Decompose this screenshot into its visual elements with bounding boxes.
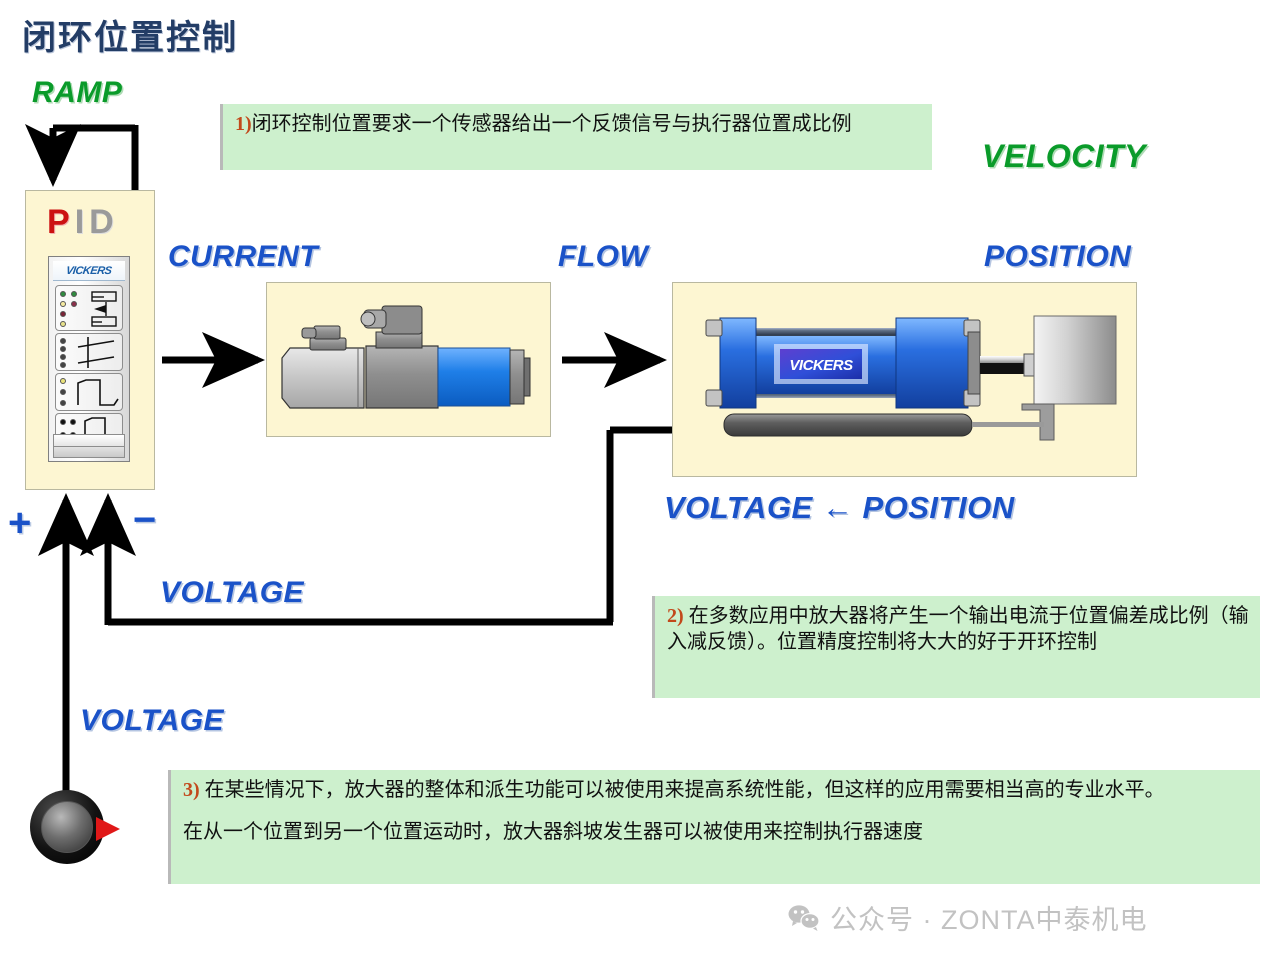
led-yellow-3	[60, 378, 66, 384]
led-yellow-1	[60, 301, 66, 307]
footer-watermark: 公众号 · ZONTA中泰机电	[788, 898, 1147, 937]
command-joystick[interactable]	[30, 790, 104, 864]
note-2-number: 2)	[667, 605, 684, 627]
note-1-number: 1)	[235, 113, 252, 135]
note-3: 3) 在某些情况下，放大器的整体和派生功能可以被使用来提高系统性能，但这样的应用…	[168, 770, 1260, 884]
note-1-text: 闭环控制位置要求一个传感器给出一个反馈信号与执行器位置成比例	[252, 113, 852, 135]
note-3-text-line1: 在某些情况下，放大器的整体和派生功能可以被使用来提高系统性能，但这样的应用需要相…	[205, 779, 1165, 801]
led-red-1	[71, 301, 77, 307]
note-3-paragraph-1: 3) 在某些情况下，放大器的整体和派生功能可以被使用来提高系统性能，但这样的应用…	[183, 777, 1250, 803]
summing-minus-sign: −	[133, 500, 156, 540]
joystick-pointer-icon	[96, 817, 120, 841]
cylinder-brand-text: VICKERS	[789, 357, 853, 374]
signal-label-voltage-command: VOLTAGE	[80, 704, 224, 738]
signal-label-voltage-feedback: VOLTAGE	[160, 576, 304, 610]
note-1: 1)闭环控制位置要求一个传感器给出一个反馈信号与执行器位置成比例	[220, 104, 932, 170]
led-dark-5	[60, 389, 66, 395]
note-2-text: 在多数应用中放大器将产生一个输出电流于位置偏差成比例（输入减反馈）。位置精度控制…	[667, 605, 1249, 653]
amplifier-base	[53, 434, 125, 458]
pid-letter-i: I	[75, 203, 89, 241]
led-dark-4	[60, 362, 66, 368]
signal-label-velocity: VELOCITY	[982, 138, 1146, 175]
vickers-logo-amplifier: VICKERS	[53, 261, 125, 281]
amplifier-symbol-2	[74, 337, 126, 369]
proportional-valve-image	[278, 300, 540, 422]
amplifier-symbol-1	[86, 290, 126, 328]
note-2: 2) 在多数应用中放大器将产生一个输出电流于位置偏差成比例（输入减反馈）。位置精…	[652, 596, 1260, 698]
amplifier-section-3	[55, 373, 123, 411]
led-dark-2	[60, 346, 66, 352]
led-dark-6	[60, 400, 66, 406]
note-3-text-line2: 在从一个位置到另一个位置运动时，放大器斜坡发生器可以被使用来控制执行器速度	[183, 821, 923, 843]
signal-label-voltage-position: VOLTAGE ← POSITION	[664, 490, 1015, 526]
wechat-icon	[788, 904, 820, 932]
signal-label-position: POSITION	[984, 240, 1131, 274]
signal-label-current: CURRENT	[168, 240, 318, 274]
footer-text: 公众号 · ZONTA中泰机电	[830, 898, 1147, 937]
hydraulic-cylinder-image: VICKERS	[682, 292, 1130, 470]
amplifier-section-1	[55, 285, 123, 331]
summing-plus-sign: +	[8, 503, 31, 543]
pid-letter-d: D	[89, 203, 119, 241]
led-green-1	[60, 291, 66, 297]
signal-label-flow: FLOW	[558, 240, 648, 274]
note-3-paragraph-2: 在从一个位置到另一个位置运动时，放大器斜坡发生器可以被使用来控制执行器速度	[183, 819, 1250, 845]
led-yellow-2	[60, 321, 66, 327]
joystick-knob[interactable]	[41, 801, 93, 853]
pid-letter-p: P	[47, 203, 75, 241]
led-black-1	[60, 419, 66, 425]
led-green-2	[71, 291, 77, 297]
signal-label-ramp: RAMP	[32, 76, 122, 110]
led-black-2	[70, 419, 76, 425]
vickers-logo-text: VICKERS	[65, 265, 112, 277]
led-dark-3	[60, 354, 66, 360]
diagram-canvas: 闭环位置控制 PID VICKERS	[0, 0, 1280, 960]
note-3-number: 3)	[183, 779, 200, 801]
amplifier-symbol-3	[74, 377, 126, 409]
amplifier-card: VICKERS	[48, 256, 130, 462]
led-dark-1	[60, 338, 66, 344]
led-red-2	[60, 311, 66, 317]
amplifier-section-2	[55, 333, 123, 371]
pid-label: PID	[47, 205, 119, 239]
